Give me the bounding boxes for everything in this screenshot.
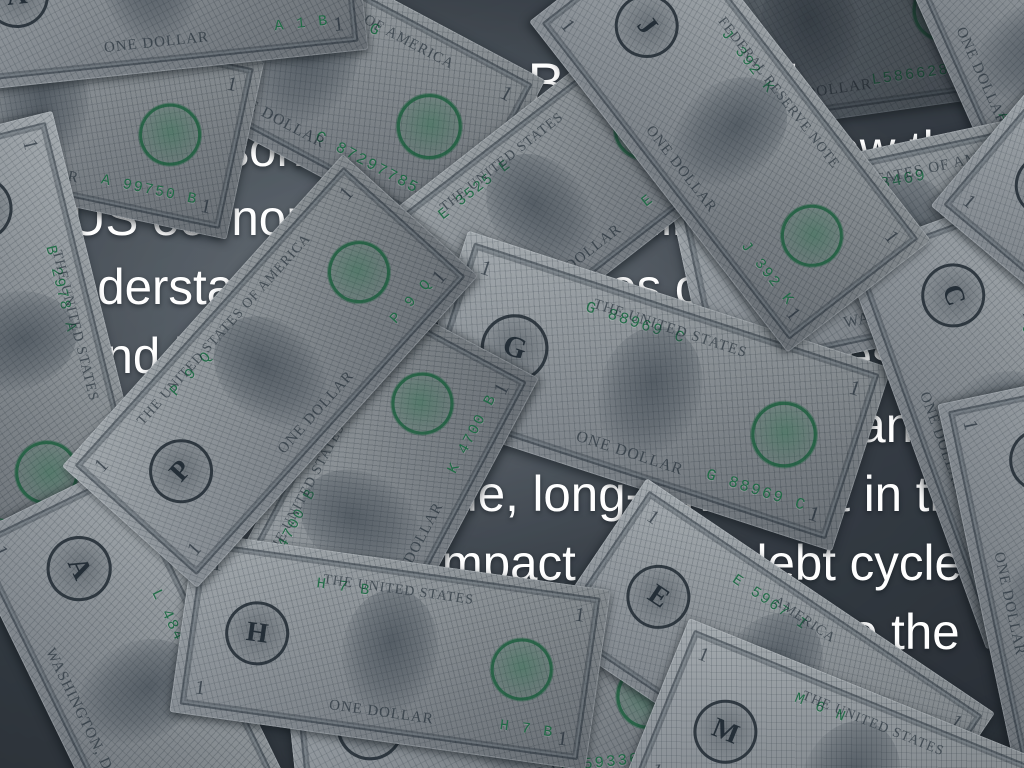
treasury-seal-icon [743,393,826,476]
bill-denomination: 1 [879,226,903,248]
federal-reserve-seal-icon: R [1002,141,1024,231]
bill-bottom-legend: ONE DOLLAR [328,697,435,729]
bill-denomination: 1 [17,137,42,153]
federal-reserve-seal-icon: C [912,254,994,336]
bill-denomination: 1 [477,256,495,282]
bill-denomination: 1 [556,727,569,751]
bill-bottom-legend: ONE DOLLAR [990,551,1024,658]
federal-reserve-seal-icon: B [0,169,20,248]
bill-denomination: 1 [183,538,207,561]
bill-denomination: 1 [648,759,666,768]
federal-reserve-seal-icon: P [136,426,226,516]
bill-denomination: 1 [958,418,983,433]
bill-denomination: 1 [496,81,517,107]
bill-bottom-legend: ONE DOLLAR [574,428,686,480]
treasury-seal-icon [248,0,316,1]
bill-denomination: 1 [573,603,586,627]
bill-denomination: 1 [332,13,344,37]
federal-reserve-seal-icon: A [36,525,123,612]
federal-reserve-seal-icon: H [221,597,293,669]
bill-denomination: 1 [90,454,114,477]
bill-serial-number: B 2978 A [0,438,7,529]
bill-serial-number: P 9 Q [387,275,436,327]
bill-denomination: 1 [642,505,663,530]
bill-denomination: 1 [958,190,980,214]
federal-reserve-seal-icon: M [684,690,767,768]
bill-denomination: 1 [555,15,579,37]
federal-reserve-seal-icon: J [602,0,692,71]
federal-reserve-seal-icon: A [0,0,52,31]
bill-denomination: 1 [805,502,823,528]
treasury-seal-icon [768,192,855,279]
bill-serial-number: G 88969 C [704,466,809,516]
bill-denomination: 1 [199,195,214,220]
bill-denomination: 1 [846,376,864,402]
bill-denomination: 1 [335,182,359,205]
treasury-seal-icon [487,634,557,704]
bill-denomination: 1 [193,676,206,700]
federal-reserve-seal-icon: D [1003,422,1024,498]
bill-top-legend: AMERICA [770,594,838,647]
bill-denomination: 1 [225,73,240,98]
treasury-seal-icon [315,228,403,316]
bill-serial-number: A 1 B [274,13,330,36]
bill-serial-number: H 7 B [499,717,556,741]
bill-serial-number: A 99750 B [99,171,199,208]
bill-serial-number: E 5967 I [729,571,811,634]
treasury-seal-icon [381,362,465,446]
slide-canvas: LL58662831 KL58662831 KFEDERAL RESERVE N… [0,0,1024,768]
treasury-seal-icon [133,98,207,172]
bill-denomination: 1 [0,542,13,561]
bill-top-legend: THE UNITED STATES [322,572,475,609]
bill-bottom-legend: ONE DOLLAR [103,29,210,57]
bill-denomination: 1 [694,643,712,668]
